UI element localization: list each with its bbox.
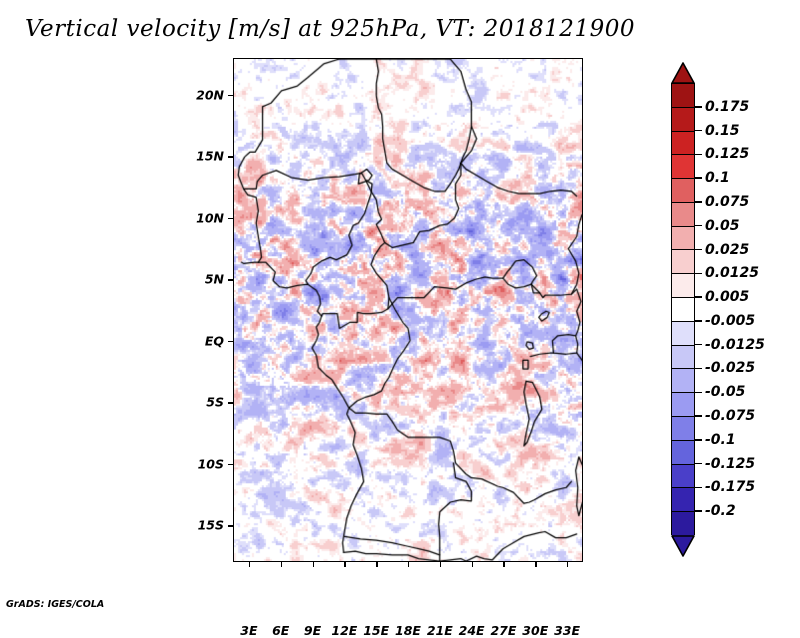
y-tick-label: 10N (196, 210, 224, 225)
colorbar-swatch (672, 155, 694, 179)
colorbar-tick (695, 392, 702, 394)
x-tick (281, 562, 282, 567)
colorbar-swatch (672, 203, 694, 227)
colorbar-tick (695, 130, 702, 132)
y-tick-label: 15S (198, 518, 224, 533)
colorbar-min-arrow-icon (671, 535, 695, 557)
y-tick-label: 20N (196, 87, 224, 102)
colorbar-swatch (672, 488, 694, 512)
colorbar-tick-label: -0.175 (705, 479, 755, 495)
x-tick-label: 6E (272, 623, 289, 638)
x-tick-label: 18E (395, 623, 421, 638)
y-tick-label: 5N (205, 272, 224, 287)
colorbar-tick (695, 368, 702, 370)
colorbar-tick-label: 0.005 (705, 289, 749, 305)
x-tick (249, 562, 250, 567)
colorbar-tick-label: 0.15 (705, 123, 740, 139)
x-tick-label: 21E (427, 623, 453, 638)
page-title: Vertical velocity [m/s] at 925hPa, VT: 2… (0, 16, 660, 42)
x-tick (313, 562, 314, 567)
x-tick-label: 9E (304, 623, 321, 638)
colorbar-swatches (671, 83, 695, 535)
colorbar-tick (695, 344, 702, 346)
grads-credit: GrADS: IGES/COLA (6, 599, 104, 610)
x-tick-label: 24E (459, 623, 485, 638)
x-tick-label: 3E (240, 623, 257, 638)
colorbar-swatch (672, 108, 694, 132)
colorbar-swatch (672, 298, 694, 322)
colorbar-tick (695, 296, 702, 298)
colorbar-tick (695, 106, 702, 108)
colorbar-tick-label: -0.125 (705, 456, 755, 472)
x-tick (344, 562, 345, 567)
colorbar-swatch (672, 179, 694, 203)
colorbar-swatch (672, 441, 694, 465)
colorbar-tick (695, 201, 702, 203)
x-tick-label: 33E (554, 623, 580, 638)
y-tick-label: 10S (198, 456, 224, 471)
colorbar-tick-label: -0.005 (705, 313, 755, 329)
colorbar-tick-label: -0.1 (705, 432, 736, 448)
x-tick (503, 562, 504, 567)
colorbar-swatch (672, 84, 694, 108)
colorbar-tick (695, 487, 702, 489)
colorbar-swatch (672, 512, 694, 536)
x-tick (440, 562, 441, 567)
colorbar-tick (695, 320, 702, 322)
colorbar-swatch (672, 322, 694, 346)
x-tick-label: 27E (490, 623, 516, 638)
colorbar-tick-label: 0.075 (705, 194, 749, 210)
colorbar-tick-label: -0.075 (705, 408, 755, 424)
colorbar-tick (695, 463, 702, 465)
y-tick-label: EQ (205, 333, 224, 348)
x-tick (408, 562, 409, 567)
colorbar-tick (695, 510, 702, 512)
colorbar-swatch (672, 227, 694, 251)
colorbar-tick (695, 415, 702, 417)
colorbar-tick-label: 0.1 (705, 170, 730, 186)
map-frame (233, 58, 583, 562)
country-borders-overlay (234, 59, 582, 561)
colorbar-tick-label: 0.0125 (705, 265, 759, 281)
y-tick-label: 5S (206, 395, 224, 410)
colorbar-max-arrow-icon (671, 62, 695, 84)
colorbar-tick-label: -0.2 (705, 503, 736, 519)
colorbar[interactable]: 0.1750.150.1250.10.0750.050.0250.01250.0… (671, 62, 695, 556)
colorbar-tick-label: 0.05 (705, 218, 740, 234)
colorbar-tick (695, 249, 702, 251)
colorbar-swatch (672, 393, 694, 417)
x-tick (535, 562, 536, 567)
x-tick (376, 562, 377, 567)
colorbar-tick-label: 0.125 (705, 146, 749, 162)
colorbar-tick-label: -0.025 (705, 360, 755, 376)
x-tick (472, 562, 473, 567)
colorbar-tick (695, 177, 702, 179)
colorbar-tick (695, 225, 702, 227)
colorbar-swatch (672, 369, 694, 393)
colorbar-swatch (672, 465, 694, 489)
x-tick-label: 30E (522, 623, 548, 638)
colorbar-tick (695, 154, 702, 156)
colorbar-swatch (672, 346, 694, 370)
colorbar-swatch (672, 274, 694, 298)
colorbar-tick (695, 273, 702, 275)
colorbar-swatch (672, 132, 694, 156)
colorbar-swatch (672, 250, 694, 274)
x-tick-label: 12E (331, 623, 357, 638)
y-axis-labels: 20N15N10N5NEQ5S10S15S (150, 58, 233, 562)
colorbar-tick-label: 0.175 (705, 99, 749, 115)
map-plot-area[interactable]: 3E6E9E12E15E18E21E24E27E30E33E (233, 58, 583, 562)
colorbar-tick (695, 439, 702, 441)
y-tick-label: 15N (196, 149, 224, 164)
colorbar-tick-label: 0.025 (705, 242, 749, 258)
colorbar-tick-label: -0.0125 (705, 337, 765, 353)
x-tick (567, 562, 568, 567)
x-tick-label: 15E (363, 623, 389, 638)
colorbar-tick-label: -0.05 (705, 384, 745, 400)
colorbar-swatch (672, 417, 694, 441)
